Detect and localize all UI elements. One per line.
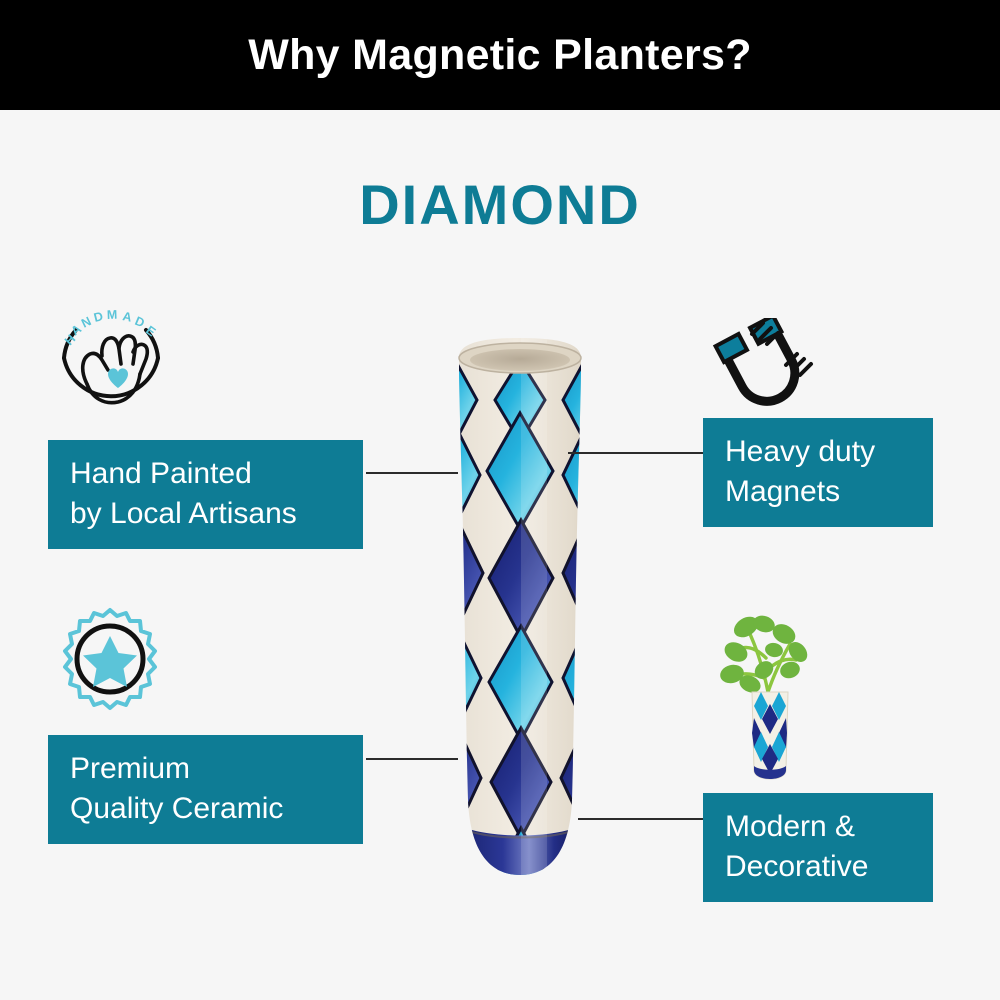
vase-rim xyxy=(459,343,581,373)
connector-line-heavy-duty-magnets xyxy=(568,452,703,454)
feature-label-hand-painted: Hand Painted by Local Artisans xyxy=(48,440,363,549)
feature-label-line2: Quality Ceramic xyxy=(70,789,343,829)
feature-label-line1: Hand Painted xyxy=(70,454,343,494)
svg-text:D: D xyxy=(133,314,147,330)
planter-with-plant-icon xyxy=(706,600,836,780)
header-bar: Why Magnetic Planters? xyxy=(0,0,1000,110)
feature-label-line2: by Local Artisans xyxy=(70,494,343,534)
vase-body xyxy=(425,330,615,895)
mini-vase xyxy=(752,692,788,779)
feature-label-modern-decorative: Modern & Decorative xyxy=(703,793,933,902)
svg-text:M: M xyxy=(107,308,118,322)
svg-text:E: E xyxy=(143,323,158,339)
page-title: Why Magnetic Planters? xyxy=(248,31,752,80)
product-name: DIAMOND xyxy=(0,172,1000,237)
quality-star-badge-icon xyxy=(50,604,170,714)
feature-label-line1: Modern & xyxy=(725,807,913,847)
connector-line-premium-quality xyxy=(366,758,458,760)
feature-label-heavy-duty-magnets: Heavy duty Magnets xyxy=(703,418,933,527)
feature-label-line1: Heavy duty xyxy=(725,432,913,472)
handmade-hand-heart-icon: H A N D M A D E xyxy=(46,306,176,416)
svg-text:A: A xyxy=(121,309,133,324)
connector-line-modern-decorative xyxy=(578,818,703,820)
infographic-page: Why Magnetic Planters? DIAMOND xyxy=(0,0,1000,1000)
feature-label-premium-quality: Premium Quality Ceramic xyxy=(48,735,363,844)
connector-line-hand-painted xyxy=(366,472,458,474)
horseshoe-magnet-icon xyxy=(712,318,817,410)
feature-label-line2: Magnets xyxy=(725,472,913,512)
feature-label-line2: Decorative xyxy=(725,847,913,887)
svg-text:N: N xyxy=(79,314,93,331)
feature-label-line1: Premium xyxy=(70,749,343,789)
product-image-vase xyxy=(425,330,615,895)
diamond-row-4 xyxy=(425,620,615,740)
svg-text:D: D xyxy=(92,309,104,325)
